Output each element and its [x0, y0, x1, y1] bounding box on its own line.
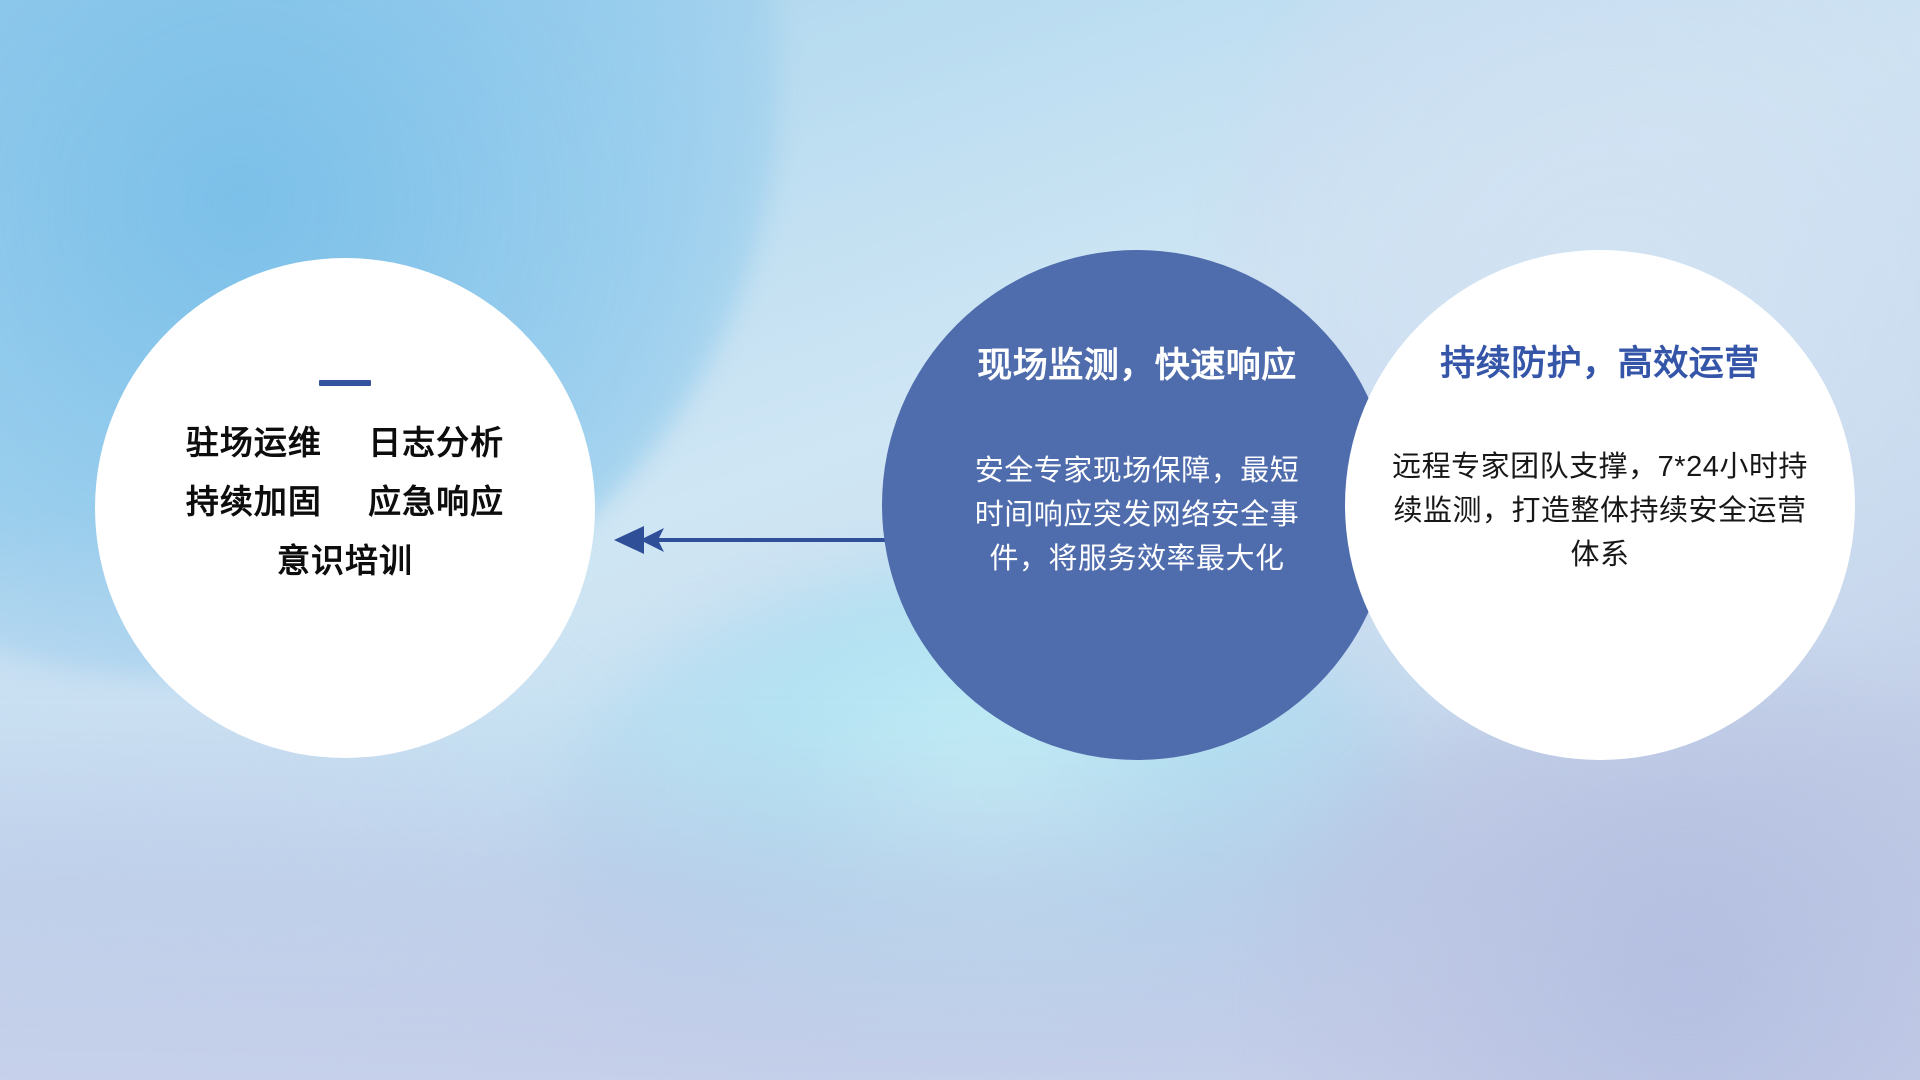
left-item-label: 应急响应: [368, 483, 504, 520]
right-circle-title: 持续防护，高效运营: [1440, 346, 1760, 381]
flow-arrow-icon: [610, 520, 920, 560]
left-item-label: 日志分析: [368, 424, 504, 461]
divider-dash-icon: [319, 380, 371, 386]
middle-circle-title: 现场监测，快速响应: [977, 348, 1297, 383]
middle-circle-body: 安全专家现场保障，最短时间响应突发网络安全事件，将服务效率最大化: [972, 449, 1302, 581]
right-circle-content: 持续防护，高效运营 远程专家团队支撑，7*24小时持续监测，打造整体持续安全运营…: [1345, 250, 1855, 760]
left-capability-circle[interactable]: 驻场运维 日志分析 持续加固 应急响应 意识培训: [95, 258, 595, 758]
slide-canvas: 驻场运维 日志分析 持续加固 应急响应 意识培训 现场监测，快速响应 安全专家现…: [0, 0, 1920, 1080]
list-item: 驻场运维 日志分析: [186, 426, 504, 459]
left-capability-list: 驻场运维 日志分析 持续加固 应急响应 意识培训: [186, 426, 504, 577]
left-item-label: 意识培训: [277, 542, 413, 579]
left-item-label: 持续加固: [186, 483, 322, 520]
list-item: 意识培训: [277, 544, 413, 577]
middle-circle-content: 现场监测，快速响应 安全专家现场保障，最短时间响应突发网络安全事件，将服务效率最…: [882, 250, 1392, 760]
list-item: 持续加固 应急响应: [186, 485, 504, 518]
right-circle-body: 远程专家团队支撑，7*24小时持续监测，打造整体持续安全运营体系: [1390, 445, 1810, 577]
left-item-label: 驻场运维: [186, 424, 322, 461]
